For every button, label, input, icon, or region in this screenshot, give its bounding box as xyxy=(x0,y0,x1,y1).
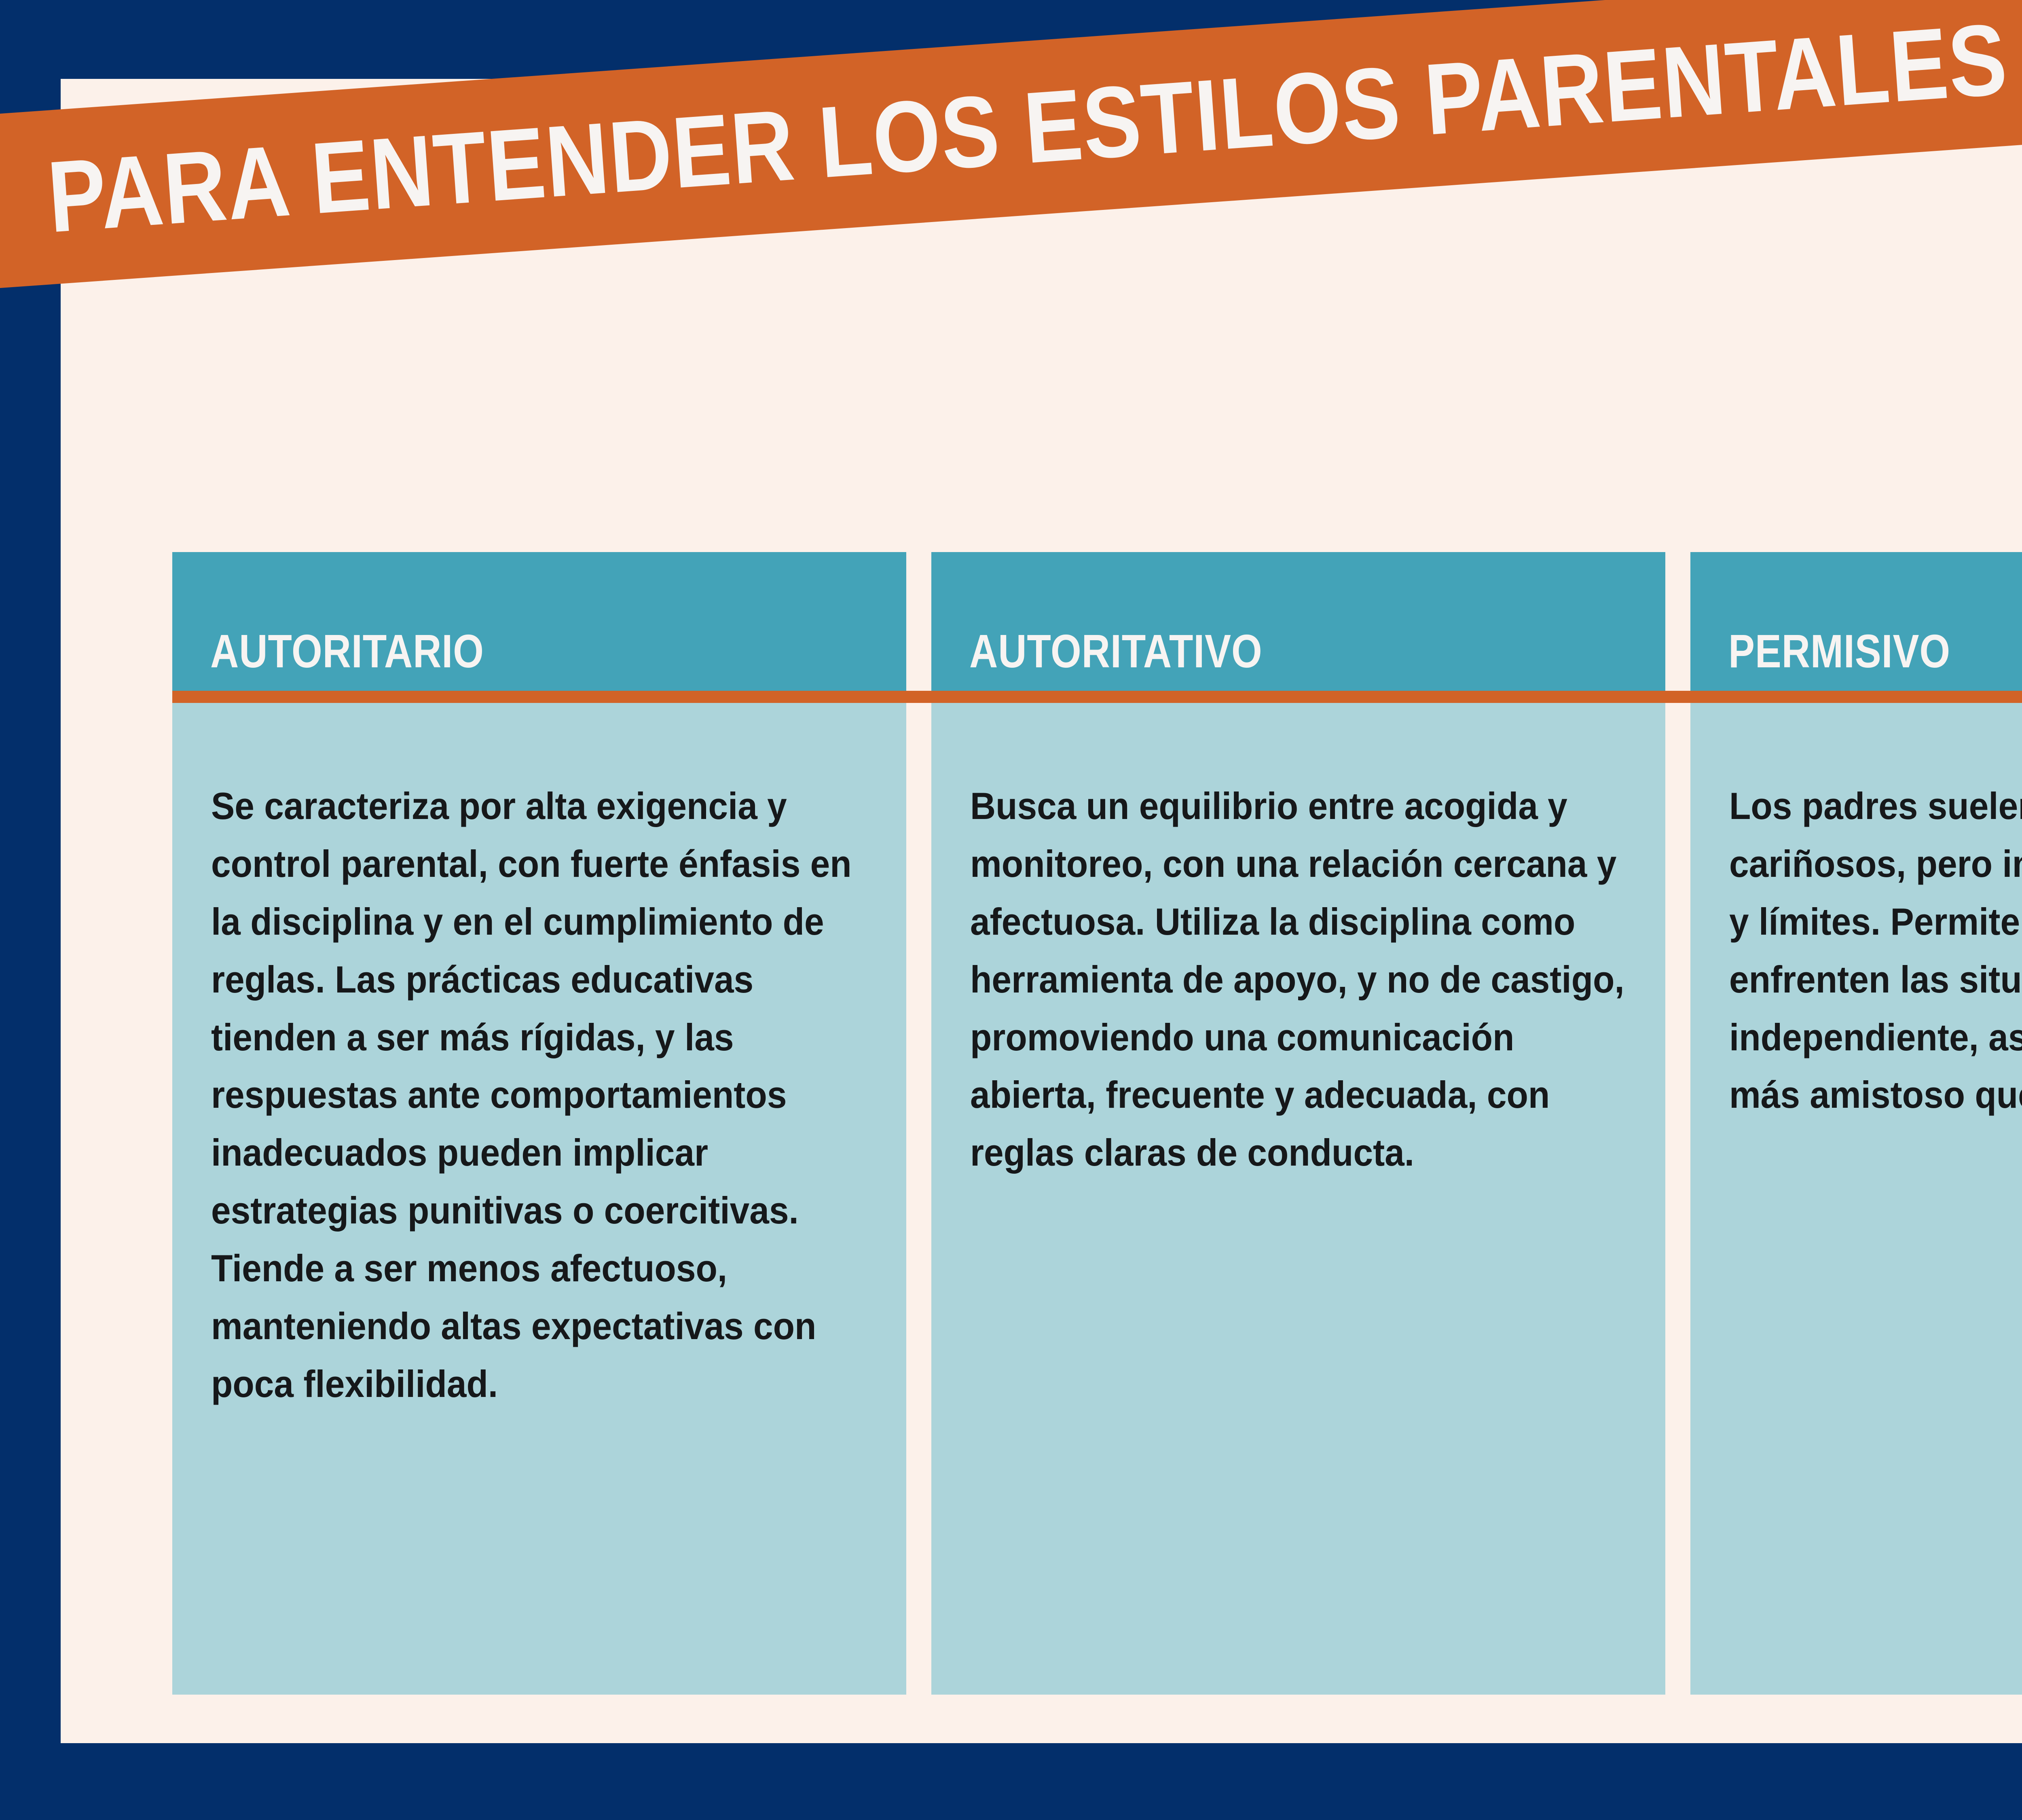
column-header-label: PERMISIVO xyxy=(1728,628,1950,675)
column-body-text: Los padres suelen ser afectuosos y cariñ… xyxy=(1729,777,2022,1124)
infographic-page: { "colors": { "border_navy": "#032F6B", … xyxy=(0,0,2022,1820)
column-body-autoritario: Se caracteriza por alta exigencia y cont… xyxy=(172,692,906,1695)
parenting-styles-columns: AUTORITARIO Se caracteriza por alta exig… xyxy=(172,552,2022,1695)
column-header-label: AUTORITATIVO xyxy=(969,628,1263,675)
header-divider-rule xyxy=(172,691,2022,703)
column-header-label: AUTORITARIO xyxy=(210,628,484,675)
column-body-autoritativo: Busca un equilibrio entre acogida y moni… xyxy=(931,692,1665,1695)
column-permisivo: PERMISIVO Los padres suelen ser afectuos… xyxy=(1690,552,2022,1695)
content-card: AUTORITARIO Se caracteriza por alta exig… xyxy=(61,79,2022,1743)
column-header-autoritario: AUTORITARIO xyxy=(172,552,906,692)
column-autoritario: AUTORITARIO Se caracteriza por alta exig… xyxy=(172,552,906,1695)
column-header-autoritativo: AUTORITATIVO xyxy=(931,552,1665,692)
column-autoritativo: AUTORITATIVO Busca un equilibrio entre a… xyxy=(931,552,1665,1695)
column-body-permisivo: Los padres suelen ser afectuosos y cariñ… xyxy=(1690,692,2022,1695)
column-header-permisivo: PERMISIVO xyxy=(1690,552,2022,692)
column-body-text: Se caracteriza por alta exigencia y cont… xyxy=(211,777,867,1413)
column-body-text: Busca un equilibrio entre acogida y moni… xyxy=(970,777,1626,1182)
